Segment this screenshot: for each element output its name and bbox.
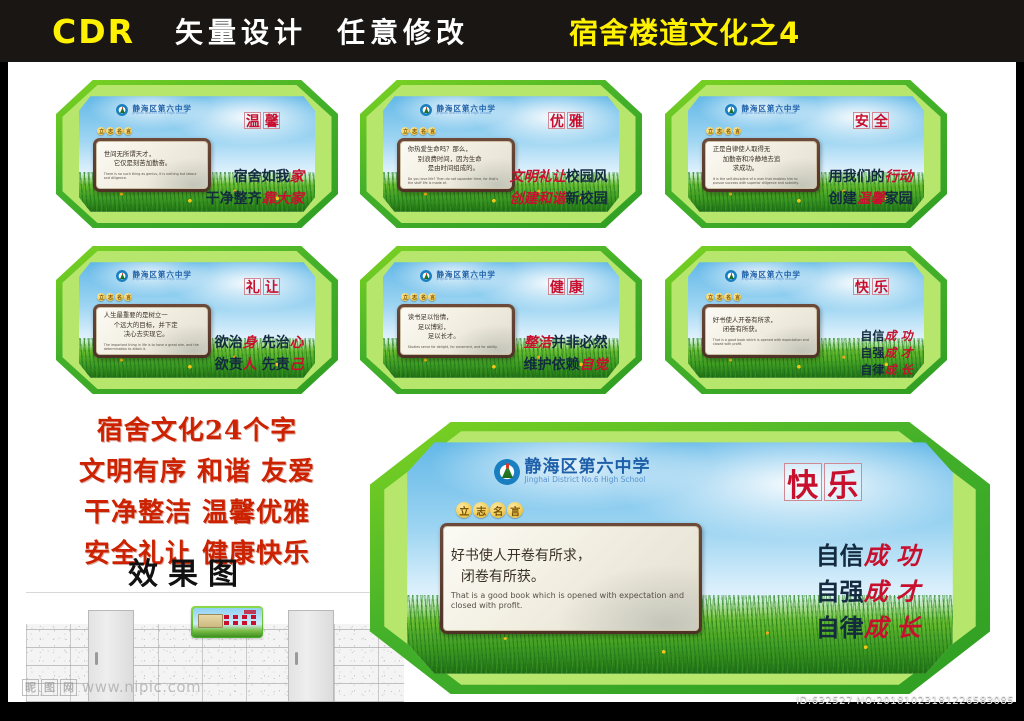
quote-en: It is the self-discipline of a man that … <box>713 177 809 185</box>
mini-sign-keyword <box>244 610 256 614</box>
watermark-url: www.nipic.com <box>82 678 201 696</box>
keyword-char-1: 全 <box>872 112 889 129</box>
quote-en: Studies serve for delight, for ornament,… <box>408 345 504 349</box>
slogan-line-0: 整洁并非必然 <box>524 332 608 354</box>
slogan-seg-0: 干净整齐 <box>206 191 262 207</box>
artboard: 静海区第六中学 Jinghai District No.6 High Schoo… <box>8 62 1016 702</box>
quote-cn: 正是自律使人取得无加勤奋和冷静地去追求成功。 <box>713 145 809 174</box>
quote-plaque-0: 世间无所谓天才，它仅是刻苦加勤奋。 There is no such thing… <box>93 138 211 192</box>
slogan-seg-2: 家园 <box>885 191 913 207</box>
quote-line-1: 足以博彩， <box>408 323 504 333</box>
slogan-seg-0: 自律 <box>816 614 864 642</box>
quote-plaque-2: 正是自律使人取得无加勤奋和冷静地去追求成功。 It is the self-di… <box>702 138 820 192</box>
badge-char-1: 志 <box>715 293 723 301</box>
school-emblem-icon <box>116 104 128 116</box>
school-name-en: Jinghai District No.6 High School <box>524 476 650 484</box>
school-identity: 静海区第六中学 Jinghai District No.6 High Schoo… <box>116 270 192 282</box>
keyword-char-0: 礼 <box>244 278 261 295</box>
keyword-2: 安全 <box>853 112 889 129</box>
badge-char-0: 立 <box>401 293 409 301</box>
keyword-char-0: 快 <box>784 463 822 501</box>
slogan-group-1: 文明礼让校园风创建和谐新校园 <box>510 166 608 210</box>
quote-line-0: 读书足以怡情， <box>408 313 504 323</box>
slogan-seg-0: 创建和谐 <box>510 191 566 207</box>
panel-artwork: 静海区第六中学 Jinghai District No.6 High Schoo… <box>383 262 620 377</box>
slogan-group-big: 自信成 功自强成 才自律成 长 <box>816 538 920 646</box>
keyword-char-1: 雅 <box>567 112 584 129</box>
slogan-seg-0: 自强 <box>860 346 884 360</box>
slogan-seg-1: 校园风 <box>566 169 608 185</box>
slogan-seg-2: 先责 <box>257 357 290 373</box>
quote-plaque-1: 你热爱生命吗？那么，别浪费时间，因为生命是由时间组成的。 Do you love… <box>397 138 515 192</box>
badge-char-2: 名 <box>724 293 732 301</box>
keyword-0: 温馨 <box>244 112 280 129</box>
badge-char-0: 立 <box>456 502 472 518</box>
school-identity: 静海区第六中学 Jinghai District No.6 High Schoo… <box>494 459 650 485</box>
quote-cn: 读书足以怡情，足以博彩，足以长才。 <box>408 313 504 342</box>
badge-char-0: 立 <box>706 293 714 301</box>
slogan-seg-0: 宿舍如我 <box>234 169 290 185</box>
keyword-char-1: 乐 <box>872 278 889 295</box>
quote-line-0: 好书使人开卷有所求， <box>713 316 809 326</box>
quote-plaque-big: 好书使人开卷有所求，闭卷有所获。 That is a good book whi… <box>440 523 702 634</box>
panel-artwork: 静海区第六中学 Jinghai District No.6 High Schoo… <box>79 262 316 377</box>
badge-char-0: 立 <box>97 293 105 301</box>
school-emblem-icon <box>116 270 128 282</box>
quote-en: That is a good book which is opened with… <box>451 591 691 611</box>
keyword-big: 快乐 <box>784 463 862 501</box>
badge-char-1: 志 <box>106 293 114 301</box>
school-name-cn: 静海区第六中学 <box>524 459 650 476</box>
mini-wall-sign <box>191 606 263 638</box>
slogan-line-0: 宿舍如我家 <box>234 166 304 188</box>
keyword-4: 健康 <box>548 278 584 295</box>
badge-char-0: 立 <box>401 127 409 135</box>
keyword-char-0: 优 <box>548 112 565 129</box>
mini-sign-line-1 <box>224 615 259 619</box>
slogan-line-1: 自强成 才 <box>860 345 912 362</box>
school-name-en: Jinghai District No.6 High School <box>132 278 192 281</box>
panel-artwork: 静海区第六中学 Jinghai District No.6 High Schoo… <box>79 96 316 211</box>
badge-char-1: 志 <box>410 293 418 301</box>
school-name-en: Jinghai District No.6 High School <box>436 278 496 281</box>
quote-cn: 你热爱生命吗？那么，别浪费时间，因为生命是由时间组成的。 <box>408 145 504 174</box>
slogan-line-0: 欲治身 先治心 <box>215 332 304 354</box>
school-identity: 静海区第六中学 Jinghai District No.6 High Schoo… <box>420 270 496 282</box>
slogan-seg-0: 文明礼让 <box>510 169 566 185</box>
slogan-seg-1: 人 <box>243 357 257 373</box>
school-name-en: Jinghai District No.6 High School <box>436 112 496 115</box>
slogan-seg-1: 并非必然 <box>552 335 608 351</box>
red-line-2: 文明有序 和谐 友爱 <box>56 451 338 488</box>
quote-line-1: 个远大的目标，并下定 <box>104 321 200 331</box>
wm-char-0: 昵 <box>22 679 39 696</box>
slogan-line-1: 自强成 才 <box>816 574 920 610</box>
quote-cn: 好书使人开卷有所求，闭卷有所获。 <box>713 316 809 335</box>
quote-plaque-4: 读书足以怡情，足以博彩，足以长才。 Studies serve for deli… <box>397 304 515 358</box>
school-emblem-icon <box>420 270 432 282</box>
badge-char-0: 立 <box>97 127 105 135</box>
quote-line-2: 是由时间组成的。 <box>408 164 504 174</box>
vector-design-label: 矢量设计 <box>175 11 307 51</box>
slogan-seg-0: 自强 <box>816 578 864 606</box>
quote-line-2: 求成功。 <box>713 164 809 174</box>
quote-en: That is a good book which is opened with… <box>713 338 809 346</box>
free-edit-label: 任意修改 <box>337 11 469 51</box>
badge-char-2: 名 <box>419 127 427 135</box>
quote-plaque-3: 人生最重要的是树立一个远大的目标，并下定决心去实现它。 The importan… <box>93 304 211 358</box>
badge-char-2: 名 <box>419 293 427 301</box>
slogan-seg-1: 温馨 <box>857 191 885 207</box>
slogan-seg-1: 家 <box>290 169 304 185</box>
plaque-badge-big: 立志名言 <box>456 502 523 518</box>
slogan-seg-3: 心 <box>290 335 304 351</box>
plaque-badge-5: 立志名言 <box>706 293 741 301</box>
quote-en: There is no such thing as genius, it is … <box>104 172 200 180</box>
badge-char-3: 言 <box>428 127 436 135</box>
door-right <box>288 610 334 702</box>
keyword-char-1: 让 <box>263 278 280 295</box>
quote-line-0: 你热爱生命吗？那么， <box>408 145 504 155</box>
school-emblem-icon <box>725 270 737 282</box>
slogan-seg-1: 新校园 <box>566 191 608 207</box>
culture-panel-5[interactable]: 静海区第六中学 Jinghai District No.6 High Schoo… <box>360 246 642 394</box>
keyword-3: 礼让 <box>244 278 280 295</box>
slogan-seg-0: 整洁 <box>524 335 552 351</box>
panel-artwork: 静海区第六中学 Jinghai District No.6 High Schoo… <box>383 96 620 211</box>
quote-line-1: 别浪费时间，因为生命 <box>408 155 504 165</box>
slogan-line-0: 自信成 功 <box>860 328 912 345</box>
slogan-seg-0: 自信 <box>860 329 884 343</box>
slogan-line-2: 自律成 长 <box>816 610 920 646</box>
panel-artwork: 静海区第六中学 Jinghai District No.6 High Schoo… <box>407 442 953 673</box>
slogan-group-0: 宿舍如我家干净整齐靠大家 <box>206 166 304 210</box>
panel-artwork: 静海区第六中学 Jinghai District No.6 High Schoo… <box>688 96 925 211</box>
plaque-badge-4: 立志名言 <box>401 293 436 301</box>
red-line-3: 干净整洁 温馨优雅 <box>56 492 338 529</box>
nipic-logo-icon: 昵 图 网 <box>22 679 77 696</box>
slogan-seg-1: 成 功 <box>884 329 912 343</box>
plaque-badge-3: 立志名言 <box>97 293 132 301</box>
slogan-seg-0: 自信 <box>816 542 864 570</box>
mini-sign-plaque <box>198 614 223 628</box>
slogan-seg-1: 自觉 <box>580 357 608 373</box>
badge-char-1: 志 <box>410 127 418 135</box>
school-name-en: Jinghai District No.6 High School <box>741 112 801 115</box>
keyword-char-0: 温 <box>244 112 261 129</box>
badge-char-1: 志 <box>715 127 723 135</box>
keyword-char-1: 乐 <box>824 463 862 501</box>
badge-char-0: 立 <box>706 127 714 135</box>
slogan-seg-1: 成 才 <box>864 577 920 606</box>
slogan-seg-1: 成 才 <box>884 346 912 360</box>
page-title: 宿舍楼道文化之4 <box>569 10 800 52</box>
culture-panel-4[interactable]: 静海区第六中学 Jinghai District No.6 High Schoo… <box>56 246 338 394</box>
school-emblem-icon <box>420 104 432 116</box>
slogan-line-0: 文明礼让校园风 <box>510 166 608 188</box>
keyword-char-0: 快 <box>853 278 870 295</box>
slogan-line-1: 创建温馨家园 <box>829 188 913 210</box>
badge-char-3: 言 <box>507 502 523 518</box>
culture-panel-large[interactable]: 静海区第六中学 Jinghai District No.6 High Schoo… <box>370 422 990 694</box>
slogan-seg-0: 创建 <box>829 191 857 207</box>
quote-cn: 人生最重要的是树立一个远大的目标，并下定决心去实现它。 <box>104 311 200 340</box>
quote-en: Do you love life? Then do not squander t… <box>408 177 504 185</box>
slogan-group-2: 用我们的行动创建温馨家园 <box>829 166 913 210</box>
mini-sign-line-2 <box>224 621 259 625</box>
slogan-seg-2: 先治 <box>257 335 290 351</box>
keyword-char-0: 安 <box>853 112 870 129</box>
keyword-5: 快乐 <box>853 278 889 295</box>
quote-line-0: 正是自律使人取得无 <box>713 145 809 155</box>
badge-char-3: 言 <box>124 293 132 301</box>
quote-plaque-5: 好书使人开卷有所求，闭卷有所获。 That is a good book whi… <box>702 304 820 358</box>
keyword-char-1: 馨 <box>263 112 280 129</box>
plaque-badge-0: 立志名言 <box>97 127 132 135</box>
badge-char-2: 名 <box>490 502 506 518</box>
slogan-seg-3: 己 <box>290 357 304 373</box>
slogan-line-1: 干净整齐靠大家 <box>206 188 304 210</box>
slogan-group-5: 自信成 功自强成 才自律成 长 <box>860 328 912 377</box>
quote-cn: 世间无所谓天才，它仅是刻苦加勤奋。 <box>104 150 200 169</box>
keyword-char-1: 康 <box>567 278 584 295</box>
panel-artwork: 静海区第六中学 Jinghai District No.6 High Schoo… <box>688 262 925 377</box>
slogan-line-2: 自律成 长 <box>860 362 912 377</box>
slogan-seg-1: 成 长 <box>884 363 912 377</box>
culture-panel-6[interactable]: 静海区第六中学 Jinghai District No.6 High Schoo… <box>665 246 947 394</box>
slogan-seg-0: 维护依赖 <box>524 357 580 373</box>
slogan-line-1: 创建和谐新校园 <box>510 188 608 210</box>
badge-char-3: 言 <box>428 293 436 301</box>
badge-char-1: 志 <box>473 502 489 518</box>
quote-line-2: 足以长才。 <box>408 332 504 342</box>
watermark: 昵 图 网 www.nipic.com <box>22 678 201 696</box>
quote-line-2: 决心去实现它。 <box>104 330 200 340</box>
plaque-badge-1: 立志名言 <box>401 127 436 135</box>
slogan-line-0: 自信成 功 <box>816 538 920 574</box>
culture-panel-2[interactable]: 静海区第六中学 Jinghai District No.6 High Schoo… <box>360 80 642 228</box>
badge-char-1: 志 <box>106 127 114 135</box>
quote-line-1: 闭卷有所获。 <box>713 325 809 335</box>
badge-char-3: 言 <box>124 127 132 135</box>
quote-line-1: 闭卷有所获。 <box>451 567 691 588</box>
quote-line-0: 世间无所谓天才， <box>104 150 200 160</box>
slogan-seg-1: 身 <box>243 335 257 351</box>
slogan-group-4: 整洁并非必然维护依赖自觉 <box>524 332 608 376</box>
school-emblem-icon <box>725 104 737 116</box>
title-bar: CDR 矢量设计 任意修改 宿舍楼道文化之4 <box>0 0 1024 62</box>
quote-line-0: 好书使人开卷有所求， <box>451 546 691 567</box>
slogan-seg-1: 靠大家 <box>262 191 304 207</box>
quote-cn: 好书使人开卷有所求，闭卷有所获。 <box>451 546 691 588</box>
slogan-seg-1: 成 长 <box>864 613 920 642</box>
culture-panel-3[interactable]: 静海区第六中学 Jinghai District No.6 High Schoo… <box>665 80 947 228</box>
slogan-seg-0: 欲治 <box>215 335 243 351</box>
plaque-badge-2: 立志名言 <box>706 127 741 135</box>
badge-char-3: 言 <box>733 293 741 301</box>
wm-char-2: 网 <box>60 679 77 696</box>
red-line-1: 宿舍文化24个字 <box>56 410 338 447</box>
slogan-seg-1: 行动 <box>885 169 913 185</box>
quote-en: The important thing in life is to have a… <box>104 343 200 351</box>
slogan-seg-0: 自律 <box>860 363 884 377</box>
slogan-group-3: 欲治身 先治心欲责人 先责己 <box>215 332 304 376</box>
dorm-culture-24-chars: 宿舍文化24个字 文明有序 和谐 友爱 干净整洁 温馨优雅 安全礼让 健康快乐 <box>56 410 338 570</box>
image-id-tag: ID:632527 NO:20181023181226583085 <box>796 695 1014 707</box>
slogan-line-1: 维护依赖自觉 <box>524 354 608 376</box>
keyword-char-0: 健 <box>548 278 565 295</box>
keyword-1: 优雅 <box>548 112 584 129</box>
wm-char-1: 图 <box>41 679 58 696</box>
badge-char-2: 名 <box>115 127 123 135</box>
badge-char-2: 名 <box>724 127 732 135</box>
quote-line-1: 它仅是刻苦加勤奋。 <box>104 159 200 169</box>
school-identity: 静海区第六中学 Jinghai District No.6 High Schoo… <box>116 104 192 116</box>
badge-char-2: 名 <box>115 293 123 301</box>
slogan-line-0: 用我们的行动 <box>829 166 913 188</box>
slogan-seg-0: 用我们的 <box>829 169 885 185</box>
quote-line-1: 加勤奋和冷静地去追 <box>713 155 809 165</box>
school-identity: 静海区第六中学 Jinghai District No.6 High Schoo… <box>420 104 496 116</box>
school-name-en: Jinghai District No.6 High School <box>741 278 801 281</box>
effect-diagram-title: 效果图 <box>128 549 248 593</box>
slogan-line-1: 欲责人 先责己 <box>215 354 304 376</box>
slogan-seg-0: 欲责 <box>215 357 243 373</box>
school-identity: 静海区第六中学 Jinghai District No.6 High Schoo… <box>725 270 801 282</box>
cdr-label: CDR <box>52 12 135 51</box>
quote-line-0: 人生最重要的是树立一 <box>104 311 200 321</box>
culture-panel-1[interactable]: 静海区第六中学 Jinghai District No.6 High Schoo… <box>56 80 338 228</box>
badge-char-3: 言 <box>733 127 741 135</box>
school-emblem-icon <box>494 459 520 485</box>
school-identity: 静海区第六中学 Jinghai District No.6 High Schoo… <box>725 104 801 116</box>
slogan-seg-1: 成 功 <box>864 541 920 570</box>
school-name-en: Jinghai District No.6 High School <box>132 112 192 115</box>
